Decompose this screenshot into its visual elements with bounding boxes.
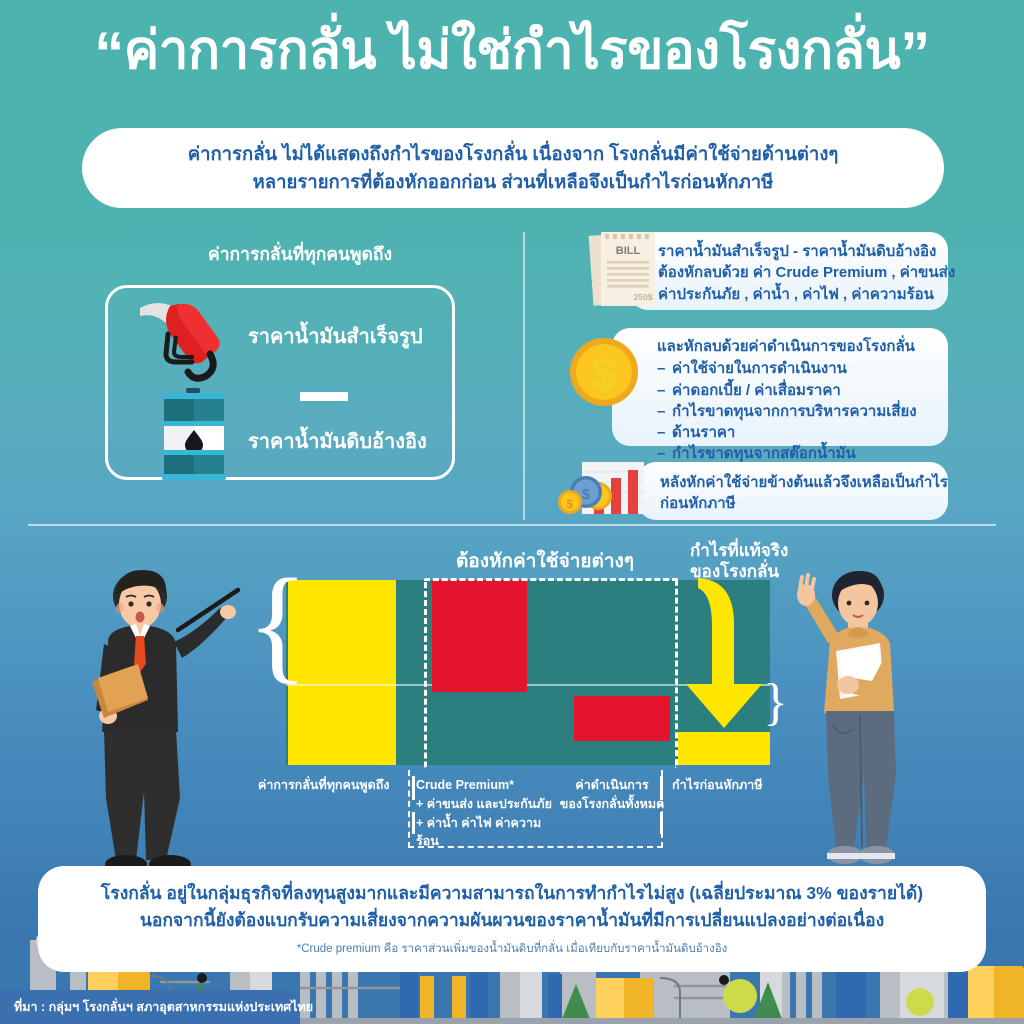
list-item: ค่าใช้จ่ายในการดำเนินงาน (657, 358, 917, 379)
summary-card: โรงกลั่น อยู่ในกลุ่มธุรกิจที่ลงทุนสูงมาก… (38, 866, 986, 972)
source-pill: ที่มา : กลุ่มฯ โรงกลั่นฯ สภาอุตสาหกรรมแห… (0, 990, 300, 1024)
vertical-divider (523, 232, 525, 520)
box3-line-2: ก่อนหักภาษี (660, 493, 948, 514)
businessman-pointer-illustration (78, 560, 258, 878)
source-text: ที่มา : กลุ่มฯ โรงกลั่นฯ สภาอุตสาหกรรมแห… (0, 997, 313, 1017)
axis-label-operating-costs: ค่าดำเนินการ ของโรงกลั่นทั้งหมด (556, 776, 668, 814)
bar-crude-premium-costs (432, 580, 527, 692)
bar-chart-coins-icon: $ $ (556, 458, 652, 522)
svg-text:$: $ (591, 348, 617, 400)
chart-title-profit-line2: ของโรงกลั่น (690, 561, 850, 582)
list-item: ค่าดอกเบี้ย / ค่าเสื่อมราคา (657, 380, 917, 401)
bar-operating-costs (574, 696, 670, 741)
svg-text:$: $ (567, 497, 574, 511)
tick-left (412, 776, 415, 800)
box2-heading: และหักลบด้วยค่าดำเนินการของโรงกลั่น (657, 336, 917, 357)
info-box-pretax-profit: หลังหักค่าใช้จ่ายข้างต้นแล้วจึงเหลือเป็น… (638, 462, 948, 520)
box1-line-2: ต้องหักลบด้วย ค่า Crude Premium , ค่าขนส… (658, 262, 955, 283)
box1-line-3: ค่าประกันภัย , ค่าน้ำ , ค่าไฟ , ค่าความร… (658, 284, 955, 305)
axis-label-crude-premium: Crude Premium* + ค่าขนส่ง และประกันภัย +… (416, 776, 561, 851)
quote-close-icon: ” (900, 20, 930, 87)
intro-line-1: ค่าการกลั่น ไม่ได้แสดงถึงกำไรของโรงกลั่น… (188, 140, 839, 168)
chart-title-profit: กำไรที่แท้จริง ของโรงกลั่น (690, 540, 850, 583)
page-title: “ค่าการกลั่น ไม่ใช่กำไรของโรงกลั่น” (0, 22, 1024, 85)
quote-open-icon: “ (94, 20, 124, 87)
bill-word: BILL (616, 245, 641, 257)
axis-label-pretax-profit: กำไรก่อนหักภาษี (672, 776, 792, 795)
axis-label-crude-line1: Crude Premium* (416, 776, 561, 795)
box1-line-1: ราคาน้ำมันสำเร็จรูป - ราคาน้ำมันดิบอ้างอ… (658, 241, 955, 262)
axis-label-crude-line3: + ค่าน้ำ ค่าไฟ ค่าความร้อน (416, 814, 561, 852)
info-box-price-formula: ราคาน้ำมันสำเร็จรูป - ราคาน้ำมันดิบอ้างอ… (630, 232, 948, 310)
axis-label-opex-line2: ของโรงกลั่นทั้งหมด (556, 795, 668, 814)
crude-price-label: ราคาน้ำมันดิบอ้างอิง (248, 425, 427, 457)
bar-pretax-profit (678, 732, 770, 765)
box3-line-1: หลังหักค่าใช้จ่ายข้างต้นแล้วจึงเหลือเป็น… (660, 472, 948, 493)
box2-list: ค่าใช้จ่ายในการดำเนินงาน ค่าดอกเบี้ย / ค… (657, 358, 917, 464)
bill-amount: 250$ (634, 292, 653, 302)
gold-coin-dollar-icon: $ (566, 334, 642, 410)
refined-price-label: ราคาน้ำมันสำเร็จรูป (248, 320, 423, 352)
intro-line-2: หลายรายการที่ต้องหักออกก่อน ส่วนที่เหลือ… (188, 168, 839, 196)
chart-title-expenses: ต้องหักค่าใช้จ่ายต่างๆ (400, 546, 690, 576)
brace-right-icon: } (763, 680, 788, 727)
chart-title-profit-line1: กำไรที่แท้จริง (690, 540, 850, 561)
title-text: ค่าการกลั่น ไม่ใช่กำไรของโรงกลั่น (124, 21, 901, 80)
list-item-continuation: ด้านราคา (657, 422, 917, 443)
bill-receipt-icon: BILL 250$ (583, 228, 667, 310)
axis-label-crude-line2: + ค่าขนส่ง และประกันภัย (416, 795, 561, 814)
infographic-page: “ค่าการกลั่น ไม่ใช่กำไรของโรงกลั่น” ค่าก… (0, 0, 1024, 1024)
oil-barrel-icon (160, 388, 228, 480)
svg-text:$: $ (582, 486, 591, 503)
fuel-nozzle-icon (136, 296, 236, 382)
left-panel-heading: ค่าการกลั่นที่ทุกคนพูดถึง (110, 240, 490, 268)
tick-right-2 (660, 812, 663, 834)
list-item: กำไรขาดทุนจากการบริหารความเสี่ยง (657, 401, 917, 422)
brace-left-icon: { (247, 572, 308, 677)
tick-right (660, 776, 663, 800)
summary-footnote: *Crude premium คือ ราคาส่วนเพิ่มของน้ำมั… (297, 940, 728, 958)
minus-operator-icon (300, 392, 348, 401)
axis-label-refining-margin: ค่าการกลั่นที่ทุกคนพูดถึง (258, 776, 418, 795)
tick-left-2 (412, 812, 415, 834)
summary-line-1: โรงกลั่น อยู่ในกลุ่มธุรกิจที่ลงทุนสูงมาก… (101, 880, 923, 906)
waterfall-chart (286, 580, 770, 765)
horizontal-divider (28, 524, 996, 526)
info-box-operating-costs: และหักลบด้วยค่าดำเนินการของโรงกลั่น ค่าใ… (612, 328, 948, 446)
intro-card: ค่าการกลั่น ไม่ได้แสดงถึงกำไรของโรงกลั่น… (82, 128, 944, 208)
axis-label-opex-line1: ค่าดำเนินการ (556, 776, 668, 795)
summary-line-2: นอกจากนี้ยังต้องแบกรับความเสี่ยงจากความผ… (101, 907, 923, 933)
young-man-waving-illustration (796, 565, 946, 870)
